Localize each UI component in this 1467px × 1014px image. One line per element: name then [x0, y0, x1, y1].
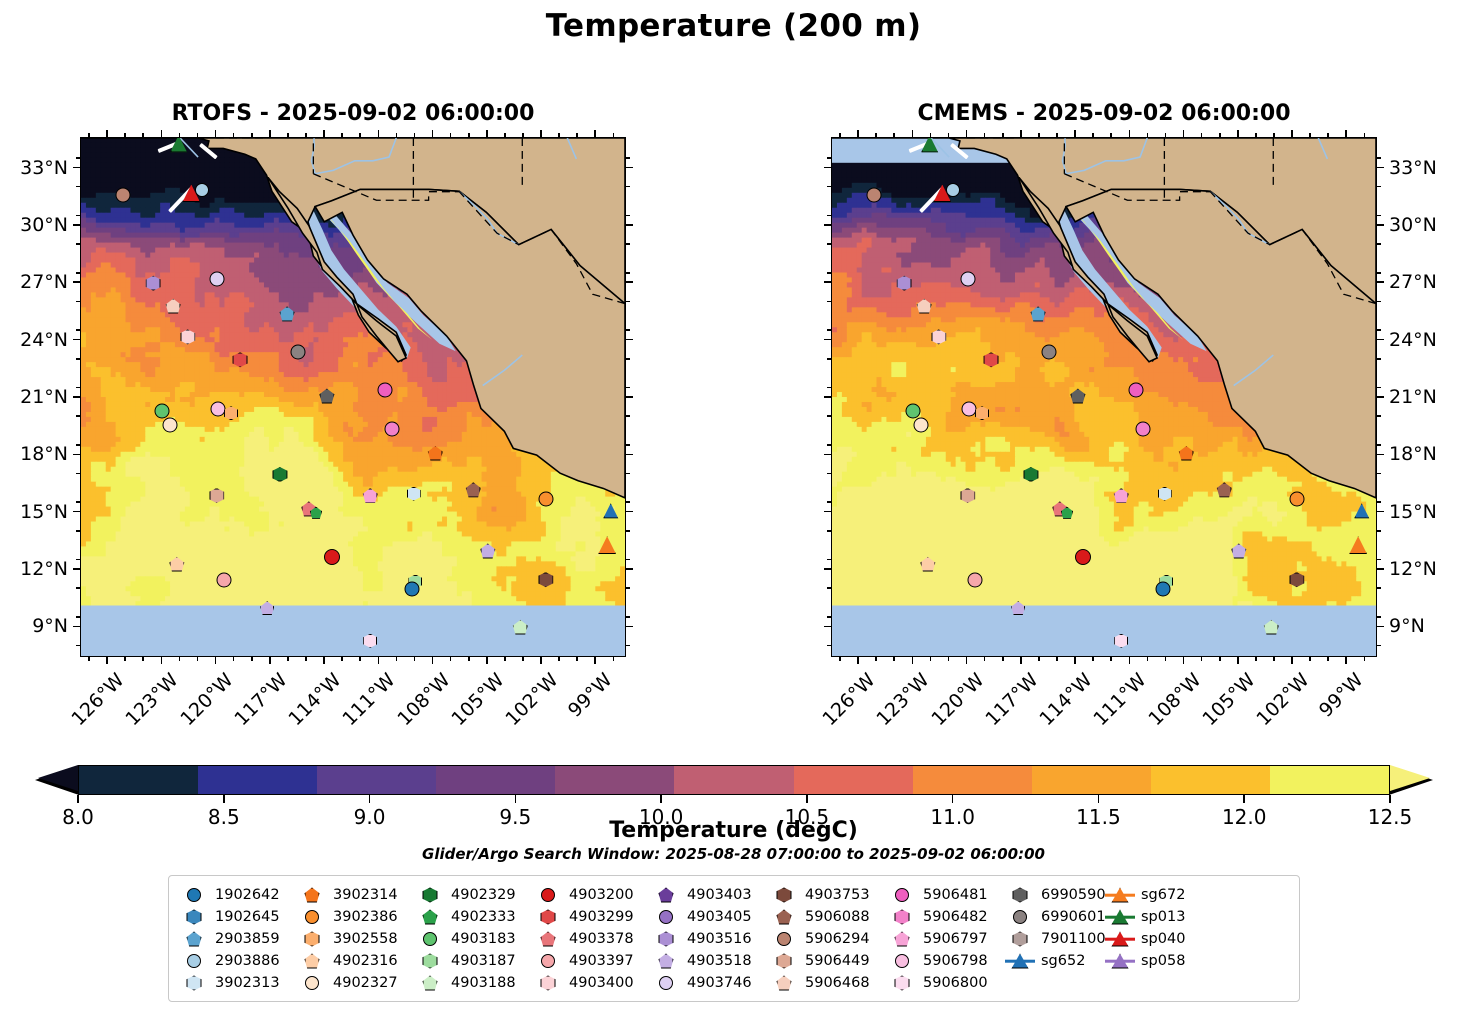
- legend-glyph: [187, 932, 202, 947]
- lat-minor-tick: [827, 215, 831, 217]
- lon-tick: [106, 657, 108, 664]
- legend-label: sp040: [1141, 931, 1185, 947]
- lat-tick-label: 15°N: [0, 501, 68, 523]
- lat-minor-tick: [1377, 559, 1381, 561]
- map-panel-rtofs[interactable]: [80, 137, 626, 657]
- colorbar-segment-1: [198, 766, 317, 794]
- colorbar-tick: [515, 795, 517, 803]
- panel-title-cmems: CMEMS - 2025-09-02 06:00:00: [831, 101, 1377, 126]
- lon-minor-tick: [930, 657, 932, 661]
- lon-tick: [540, 657, 542, 664]
- legend-item-5906294[interactable]: 5906294: [769, 929, 887, 949]
- map-marker-3902386[interactable]: [538, 492, 553, 507]
- lat-minor-tick: [1377, 243, 1381, 245]
- colorbar-segment-6: [794, 766, 913, 794]
- lat-tick: [824, 511, 831, 513]
- lon-minor-tick: [522, 133, 524, 137]
- legend-label: 5906449: [805, 953, 870, 969]
- lon-minor-tick: [341, 657, 343, 661]
- lon-minor-tick: [613, 657, 615, 661]
- legend-label: 2903859: [215, 931, 280, 947]
- search-window-label: Glider/Argo Search Window: 2025-08-28 07…: [0, 845, 1467, 863]
- colorbar-segment-4: [555, 766, 674, 794]
- lat-tick: [1377, 167, 1384, 169]
- legend-glyph: [187, 888, 201, 902]
- lat-tick: [626, 511, 633, 513]
- legend-item-4903200[interactable]: 4903200: [533, 885, 651, 905]
- lat-minor-tick: [626, 215, 630, 217]
- legend-item-6990601[interactable]: 6990601: [1005, 907, 1105, 927]
- lon-minor-tick: [1056, 657, 1058, 661]
- lon-minor-tick: [287, 133, 289, 137]
- lon-minor-tick: [1038, 657, 1040, 661]
- lat-tick: [1377, 454, 1384, 456]
- lon-tick: [1345, 657, 1347, 664]
- lat-minor-tick: [626, 387, 630, 389]
- lat-minor-tick: [626, 186, 630, 188]
- legend-marker-pentagon-icon: [297, 951, 327, 971]
- lat-minor-tick: [626, 301, 630, 303]
- legend-label: 1902645: [215, 909, 280, 925]
- lon-minor-tick: [1327, 133, 1329, 137]
- lon-minor-tick: [930, 133, 932, 137]
- map-marker-5906798[interactable]: [962, 402, 977, 417]
- lon-minor-tick: [558, 133, 560, 137]
- legend-marker-circle-icon: [769, 929, 799, 949]
- lon-minor-tick: [450, 133, 452, 137]
- legend-item-4903299[interactable]: 4903299: [533, 907, 651, 927]
- colorbar-tick: [1098, 795, 1100, 803]
- legend-glyph: [1013, 932, 1028, 947]
- legend-label: 4902329: [451, 887, 516, 903]
- map-marker-4902327[interactable]: [162, 417, 177, 432]
- lat-minor-tick: [626, 444, 630, 446]
- legend-marker-circle-icon: [179, 951, 209, 971]
- legend-marker-triangle-icon: [1105, 907, 1135, 927]
- lon-minor-tick: [893, 133, 895, 137]
- map-marker-5906481[interactable]: [1128, 383, 1143, 398]
- colorbar-tick: [1389, 795, 1391, 803]
- map-marker-5906481[interactable]: [377, 383, 392, 398]
- lat-minor-tick: [76, 358, 80, 360]
- legend-marker-hexagon-icon: [179, 973, 209, 993]
- lon-tick: [432, 657, 434, 664]
- lat-minor-tick: [626, 587, 630, 589]
- legend-item-3902314[interactable]: 3902314: [297, 885, 415, 905]
- legend-label: 2903886: [215, 953, 280, 969]
- lon-minor-tick: [179, 133, 181, 137]
- page-title: Temperature (200 m): [0, 8, 1467, 44]
- lat-tick: [73, 454, 80, 456]
- lon-tick: [215, 130, 217, 137]
- legend-label: 3902313: [215, 975, 280, 991]
- legend-item-5906481[interactable]: 5906481: [887, 885, 1005, 905]
- lat-minor-tick: [827, 243, 831, 245]
- lat-minor-tick: [827, 616, 831, 618]
- map-marker-1902642[interactable]: [404, 582, 419, 597]
- lat-minor-tick: [827, 272, 831, 274]
- lat-minor-tick: [827, 501, 831, 503]
- lon-tick: [1074, 657, 1076, 664]
- lat-tick: [824, 454, 831, 456]
- legend-glyph: [895, 910, 910, 925]
- legend-column-5: 49037535906088590629459064495906468: [769, 885, 887, 993]
- legend-marker-hexagon-icon: [887, 907, 917, 927]
- legend-item-4903183[interactable]: 4903183: [415, 929, 533, 949]
- lat-minor-tick: [76, 444, 80, 446]
- map-marker-5906798[interactable]: [211, 402, 226, 417]
- legend-item-4903400[interactable]: 4903400: [533, 973, 651, 993]
- lon-tick: [857, 130, 859, 137]
- lat-minor-tick: [1377, 415, 1381, 417]
- lat-tick-label: 9°N: [0, 615, 68, 637]
- lat-tick-label: 24°N: [0, 329, 68, 351]
- map-marker-6990601[interactable]: [1041, 345, 1056, 360]
- map-marker-3902386[interactable]: [1289, 492, 1304, 507]
- lat-tick: [1377, 281, 1384, 283]
- legend-item-6990590[interactable]: 6990590: [1005, 885, 1105, 905]
- legend-item-4902316[interactable]: 4902316: [297, 951, 415, 971]
- colorbar-tick: [952, 795, 954, 803]
- lat-minor-tick: [626, 501, 630, 503]
- legend-label: 4903403: [687, 887, 752, 903]
- legend-glyph: [777, 910, 792, 925]
- legend-label: 4903200: [569, 887, 634, 903]
- legend-item-5906797[interactable]: 5906797: [887, 929, 1005, 949]
- legend-item-4903746[interactable]: 4903746: [651, 973, 769, 993]
- legend-item-5906088[interactable]: 5906088: [769, 907, 887, 927]
- lat-minor-tick: [76, 186, 80, 188]
- legend-item-2903859[interactable]: 2903859: [179, 929, 297, 949]
- lon-tick: [594, 657, 596, 664]
- lon-tick: [912, 657, 914, 664]
- legend-item-7901100[interactable]: 7901100: [1005, 929, 1105, 949]
- map-marker-1902642[interactable]: [1155, 582, 1170, 597]
- legend-marker-circle-icon: [533, 885, 563, 905]
- lon-minor-tick: [893, 657, 895, 661]
- legend-glyph: [777, 954, 792, 969]
- legend-item-sp040[interactable]: sp040: [1105, 929, 1205, 949]
- legend-item-5906468[interactable]: 5906468: [769, 973, 887, 993]
- legend-label: 5906481: [923, 887, 988, 903]
- lon-minor-tick: [1327, 657, 1329, 661]
- legend-marker-hexagon-icon: [1005, 885, 1035, 905]
- legend-column-4: 49034034903405490351649035184903746: [651, 885, 769, 993]
- lon-minor-tick: [1165, 657, 1167, 661]
- legend-label: 5906468: [805, 975, 870, 991]
- legend-item-4903518[interactable]: 4903518: [651, 951, 769, 971]
- lon-tick: [1129, 130, 1131, 137]
- lat-minor-tick: [1377, 444, 1381, 446]
- legend-column-1: 39023143902386390255849023164902327: [297, 885, 415, 993]
- colorbar-extend-low-fill: [38, 765, 78, 791]
- legend-glyph: [423, 888, 438, 903]
- legend-item-4903405[interactable]: 4903405: [651, 907, 769, 927]
- legend-item-sg652[interactable]: sg652: [1005, 951, 1105, 971]
- legend-glyph: [541, 976, 556, 991]
- lat-tick: [824, 224, 831, 226]
- lon-minor-tick: [1147, 133, 1149, 137]
- map-marker-4903200[interactable]: [324, 549, 340, 565]
- lat-minor-tick: [76, 415, 80, 417]
- map-marker-2903886[interactable]: [946, 183, 960, 197]
- lon-tick: [161, 657, 163, 664]
- lon-tick: [269, 657, 271, 664]
- legend-item-sg672[interactable]: sg672: [1105, 885, 1205, 905]
- legend-label: 4903753: [805, 887, 870, 903]
- legend-glyph: [187, 976, 202, 991]
- colorbar-segment-8: [1032, 766, 1151, 794]
- map-marker-5906294[interactable]: [115, 188, 130, 203]
- lon-minor-tick: [197, 133, 199, 137]
- legend-marker-circle-icon: [533, 951, 563, 971]
- legend-item-4903516[interactable]: 4903516: [651, 929, 769, 949]
- legend[interactable]: 1902642190264529038592903886390231339023…: [168, 875, 1300, 1002]
- legend-glyph: [541, 954, 555, 968]
- lat-tick-label: 27°N: [0, 271, 68, 293]
- lat-minor-tick: [626, 559, 630, 561]
- lat-minor-tick: [827, 301, 831, 303]
- legend-item-4902327[interactable]: 4902327: [297, 973, 415, 993]
- lon-tick: [1183, 657, 1185, 664]
- legend-label: 4903405: [687, 909, 752, 925]
- lon-tick: [540, 130, 542, 137]
- legend-glyph: [777, 932, 791, 946]
- lat-minor-tick: [827, 387, 831, 389]
- legend-label: 5906482: [923, 909, 988, 925]
- lon-minor-tick: [359, 657, 361, 661]
- legend-item-3902558[interactable]: 3902558: [297, 929, 415, 949]
- lon-minor-tick: [396, 133, 398, 137]
- lon-minor-tick: [341, 133, 343, 137]
- legend-marker-hexagon-icon: [651, 929, 681, 949]
- legend-item-4903187[interactable]: 4903187: [415, 951, 533, 971]
- colorbar: [22, 765, 1446, 795]
- legend-item-4903188[interactable]: 4903188: [415, 973, 533, 993]
- lon-tick: [1074, 130, 1076, 137]
- lat-tick: [626, 339, 633, 341]
- map-marker-4903746[interactable]: [960, 272, 975, 287]
- lon-minor-tick: [287, 657, 289, 661]
- lat-minor-tick: [76, 616, 80, 618]
- legend-glyph: [659, 888, 674, 903]
- lat-tick: [626, 626, 633, 628]
- legend-item-5906449[interactable]: 5906449: [769, 951, 887, 971]
- lon-minor-tick: [1002, 657, 1004, 661]
- lon-minor-tick: [576, 133, 578, 137]
- lon-minor-tick: [1255, 657, 1257, 661]
- legend-item-1902645[interactable]: 1902645: [179, 907, 297, 927]
- legend-marker-circle-icon: [297, 907, 327, 927]
- lon-minor-tick: [1056, 133, 1058, 137]
- map-marker-2903886[interactable]: [195, 183, 209, 197]
- legend-glyph: [423, 976, 438, 991]
- legend-item-2903886[interactable]: 2903886: [179, 951, 297, 971]
- legend-item-3902386[interactable]: 3902386: [297, 907, 415, 927]
- legend-marker-pentagon-icon: [651, 885, 681, 905]
- legend-item-1902642[interactable]: 1902642: [179, 885, 297, 905]
- map-marker-4902327[interactable]: [913, 417, 928, 432]
- map-marker-5906482[interactable]: [384, 421, 399, 436]
- legend-glyph: [423, 954, 438, 969]
- lat-minor-tick: [827, 186, 831, 188]
- lat-tick-label: 21°N: [1389, 386, 1437, 408]
- legend-column-0: 19026421902645290385929038863902313: [179, 885, 297, 993]
- map-marker-4903200[interactable]: [1075, 549, 1091, 565]
- lat-tick: [626, 568, 633, 570]
- map-marker-5906482[interactable]: [1135, 421, 1150, 436]
- map-panel-cmems[interactable]: [831, 137, 1377, 657]
- lat-tick: [1377, 224, 1384, 226]
- lat-minor-tick: [76, 387, 80, 389]
- lat-minor-tick: [1377, 530, 1381, 532]
- colorbar-segment-7: [913, 766, 1032, 794]
- legend-marker-hexagon-icon: [887, 973, 917, 993]
- legend-column-2: 49023294902333490318349031874903188: [415, 885, 533, 993]
- lon-minor-tick: [1165, 133, 1167, 137]
- lon-tick: [1291, 130, 1293, 137]
- legend-item-4903753[interactable]: 4903753: [769, 885, 887, 905]
- lat-tick-label: 15°N: [1389, 501, 1437, 523]
- legend-column-8: sg672sp013sp040sp058: [1105, 885, 1205, 993]
- lon-minor-tick: [1147, 657, 1149, 661]
- legend-item-5906482[interactable]: 5906482: [887, 907, 1005, 927]
- lat-tick: [824, 167, 831, 169]
- lat-tick: [73, 626, 80, 628]
- legend-label: 4902316: [333, 953, 398, 969]
- legend-item-3902313[interactable]: 3902313: [179, 973, 297, 993]
- colorbar-segment-0: [79, 766, 198, 794]
- legend-marker-pentagon-icon: [297, 885, 327, 905]
- lon-minor-tick: [305, 133, 307, 137]
- lon-minor-tick: [1110, 133, 1112, 137]
- legend-item-4903378[interactable]: 4903378: [533, 929, 651, 949]
- map-marker-4903746[interactable]: [209, 272, 224, 287]
- lon-tick: [432, 130, 434, 137]
- lon-minor-tick: [1092, 133, 1094, 137]
- legend-glyph: [1013, 910, 1027, 924]
- map-marker-5906294[interactable]: [866, 188, 881, 203]
- lat-minor-tick: [827, 157, 831, 159]
- lon-tick: [378, 130, 380, 137]
- lat-minor-tick: [1377, 473, 1381, 475]
- legend-marker-circle-icon: [415, 929, 445, 949]
- lon-minor-tick: [1219, 133, 1221, 137]
- lat-tick-label: 18°N: [1389, 443, 1437, 465]
- lon-minor-tick: [504, 657, 506, 661]
- legend-item-sp013[interactable]: sp013: [1105, 907, 1205, 927]
- lon-minor-tick: [1201, 133, 1203, 137]
- legend-glyph: [305, 910, 319, 924]
- lat-tick-label: 18°N: [0, 443, 68, 465]
- lat-tick: [73, 396, 80, 398]
- lat-minor-tick: [76, 215, 80, 217]
- legend-label: sg652: [1041, 953, 1085, 969]
- lat-minor-tick: [827, 530, 831, 532]
- legend-label: 6990601: [1041, 909, 1106, 925]
- lat-minor-tick: [76, 301, 80, 303]
- lon-minor-tick: [613, 133, 615, 137]
- lon-minor-tick: [233, 133, 235, 137]
- legend-glyph: [1013, 888, 1028, 903]
- lon-tick: [1129, 657, 1131, 664]
- lat-tick-label: 9°N: [1389, 615, 1425, 637]
- lon-minor-tick: [233, 657, 235, 661]
- lat-tick: [824, 626, 831, 628]
- lat-tick-label: 27°N: [1389, 271, 1437, 293]
- lon-minor-tick: [124, 133, 126, 137]
- lon-minor-tick: [251, 133, 253, 137]
- lon-minor-tick: [305, 657, 307, 661]
- lat-minor-tick: [626, 530, 630, 532]
- lat-minor-tick: [626, 358, 630, 360]
- lat-minor-tick: [626, 645, 630, 647]
- legend-item-4902333[interactable]: 4902333: [415, 907, 533, 927]
- legend-item-sp058[interactable]: sp058: [1105, 951, 1205, 971]
- legend-glyph: [777, 888, 792, 903]
- lon-tick: [1183, 130, 1185, 137]
- legend-marker-hexagon-icon: [769, 885, 799, 905]
- lon-tick: [1020, 657, 1022, 664]
- lat-minor-tick: [76, 243, 80, 245]
- legend-label: sp013: [1141, 909, 1185, 925]
- lon-minor-tick: [875, 657, 877, 661]
- legend-marker-hexagon-icon: [533, 907, 563, 927]
- legend-item-4903397[interactable]: 4903397: [533, 951, 651, 971]
- lat-tick: [1377, 396, 1384, 398]
- lon-minor-tick: [948, 657, 950, 661]
- legend-column-6: 59064815906482590679759067985906800: [887, 885, 1005, 993]
- lon-tick: [1237, 130, 1239, 137]
- lon-minor-tick: [984, 657, 986, 661]
- legend-column-7: 699059069906017901100sg652: [1005, 885, 1105, 993]
- legend-label: sp058: [1141, 953, 1185, 969]
- lon-minor-tick: [414, 657, 416, 661]
- legend-marker-pentagon-icon: [179, 929, 209, 949]
- legend-item-4903403[interactable]: 4903403: [651, 885, 769, 905]
- legend-item-4902329[interactable]: 4902329: [415, 885, 533, 905]
- lat-minor-tick: [76, 587, 80, 589]
- map-marker-4903397[interactable]: [967, 572, 982, 587]
- lat-minor-tick: [626, 415, 630, 417]
- legend-item-5906800[interactable]: 5906800: [887, 973, 1005, 993]
- lat-minor-tick: [626, 616, 630, 618]
- legend-item-5906798[interactable]: 5906798: [887, 951, 1005, 971]
- lon-tick: [323, 130, 325, 137]
- lat-minor-tick: [827, 444, 831, 446]
- lat-tick: [626, 396, 633, 398]
- legend-glyph: [541, 932, 556, 947]
- legend-marker-pentagon-icon: [887, 929, 917, 949]
- legend-glyph: [895, 888, 909, 902]
- map-marker-6990601[interactable]: [290, 345, 305, 360]
- legend-label: 3902314: [333, 887, 398, 903]
- legend-glyph: [777, 976, 792, 991]
- legend-marker-triangle-icon: [1105, 951, 1135, 971]
- lat-tick-label: 12°N: [0, 558, 68, 580]
- lon-tick: [323, 657, 325, 664]
- lat-tick: [73, 568, 80, 570]
- lat-tick-label: 12°N: [1389, 558, 1437, 580]
- map-marker-4903397[interactable]: [216, 572, 231, 587]
- legend-label: 4903397: [569, 953, 634, 969]
- lon-tick: [966, 130, 968, 137]
- lat-minor-tick: [626, 473, 630, 475]
- lat-tick: [73, 281, 80, 283]
- colorbar-gradient: [78, 765, 1390, 795]
- lat-tick: [626, 454, 633, 456]
- lat-tick-label: 30°N: [0, 214, 68, 236]
